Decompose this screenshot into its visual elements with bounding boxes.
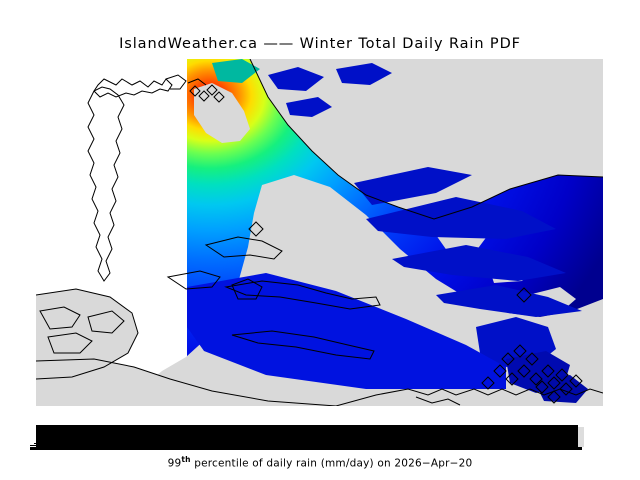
page-title: IslandWeather.ca —— Winter Total Daily R… [0,36,640,52]
map-canvas[interactable] [36,59,603,406]
colorbar[interactable] [36,425,578,447]
map-panel[interactable] [36,59,603,406]
caption-percentile-number: 99 [168,458,182,470]
caption-rest: percentile of daily rain (mm/day) on 202… [191,458,473,470]
colorbar-fill [36,425,578,447]
colorbar-axis-tick-left-secondary [34,443,48,444]
colorbar-axis-line [30,447,582,450]
colorbar-axis-tick-left [30,445,48,446]
colorbar-caption: 99th percentile of daily rain (mm/day) o… [0,455,640,470]
colorbar-endcap [578,427,584,447]
caption-percentile-suffix: th [181,455,190,464]
